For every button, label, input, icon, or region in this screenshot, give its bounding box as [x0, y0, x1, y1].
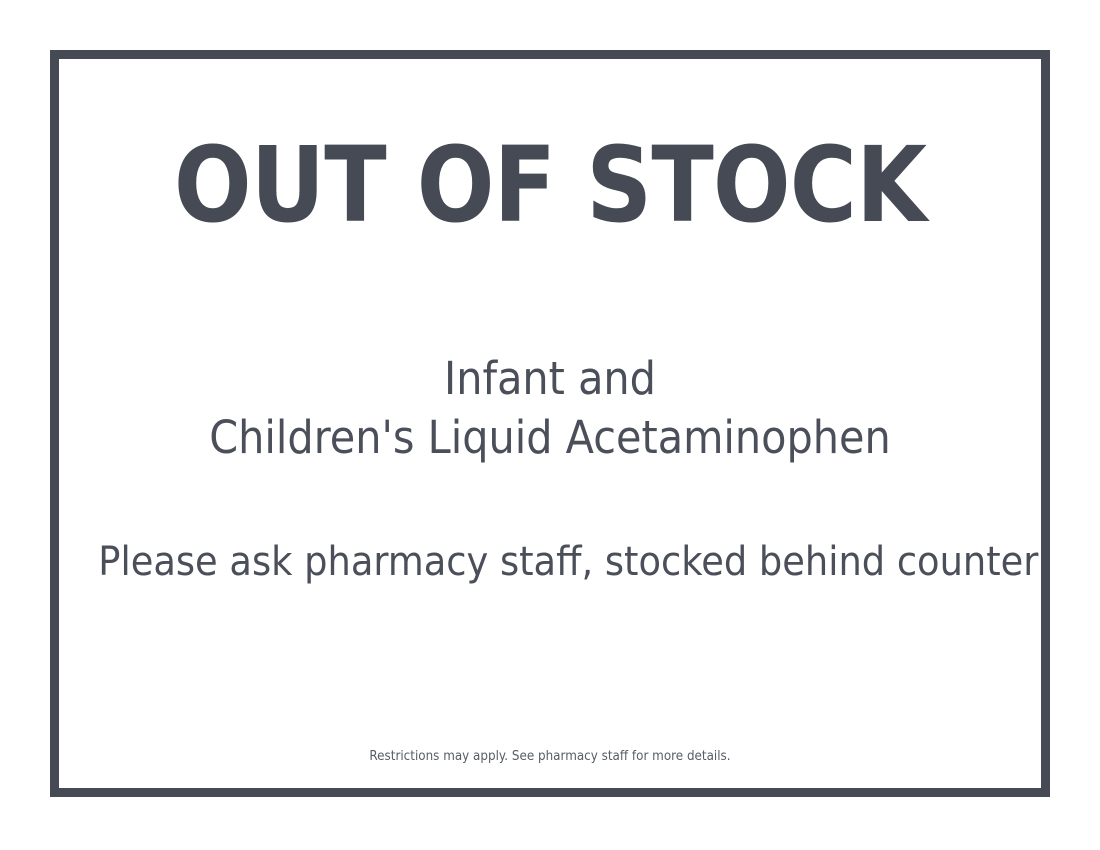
footnote-disclaimer: Restrictions may apply. See pharmacy sta…	[98, 749, 1001, 766]
page-title: OUT OF STOCK	[118, 131, 982, 240]
out-of-stock-sign-page: OUT OF STOCK Infant and Children's Liqui…	[0, 0, 1100, 850]
sign-border-frame: OUT OF STOCK Infant and Children's Liqui…	[50, 50, 1050, 797]
product-name-line-2: Children's Liquid Acetaminophen	[98, 408, 1001, 467]
instruction-text: Please ask pharmacy staff, stocked behin…	[98, 536, 1001, 588]
product-name-block: Infant and Children's Liquid Acetaminoph…	[59, 349, 1041, 468]
product-name-line-1: Infant and	[98, 349, 1001, 408]
sign-content-area: OUT OF STOCK Infant and Children's Liqui…	[59, 59, 1041, 788]
